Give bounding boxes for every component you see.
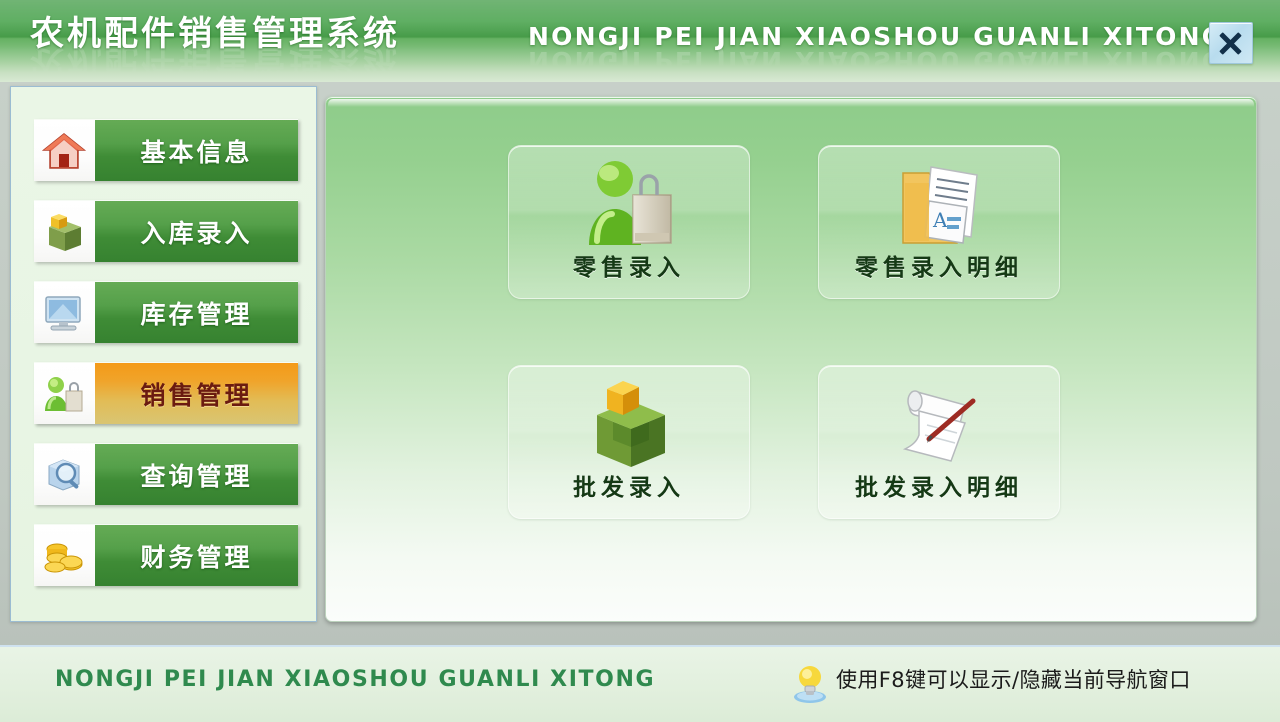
tile-label: 批发录入 [509,468,749,502]
footer-pinyin-label: NONGJI PEI JIAN XIAOSHOU GUANLI XITONG [55,667,655,692]
application-window: 农机配件销售管理系统 农机配件销售管理系统 NONGJI PEI JIAN XI… [0,0,1280,720]
monitor-icon [34,282,95,343]
sidebar-item-label: 库存管理 [95,282,298,343]
sidebar-item-query-management[interactable]: 查询管理 [34,443,298,505]
tile-retail-entry[interactable]: 零售录入 [508,145,750,299]
tile-label: 批发录入明细 [819,468,1059,502]
green-boxes-icon [509,378,749,468]
person-shopping-bag-icon [509,158,749,248]
sidebar-item-label: 财务管理 [95,525,298,586]
close-button[interactable] [1209,22,1253,64]
boxes-icon [34,201,95,262]
folder-documents-icon: A [819,158,1059,248]
sidebar-item-label: 销售管理 [95,363,298,424]
home-icon [34,120,95,181]
workspace: 基本信息 入库录入 [0,82,1280,645]
magnifier-icon [34,444,95,505]
tile-wholesale-entry[interactable]: 批发录入 [508,365,750,519]
sidebar-item-label: 基本信息 [95,120,298,181]
sidebar-item-label: 入库录入 [95,201,298,262]
sales-module-panel: 零售录入 A [325,96,1257,622]
status-bar: NONGJI PEI JIAN XIAOSHOU GUANLI XITONG 使… [0,645,1280,722]
sidebar-item-label: 查询管理 [95,444,298,505]
scroll-pencil-icon [819,378,1059,468]
navigation-sidebar: 基本信息 入库录入 [10,86,317,622]
sidebar-item-sales-management[interactable]: 销售管理 [34,362,298,424]
tile-wholesale-entry-details[interactable]: 批发录入明细 [818,365,1060,519]
sidebar-item-inventory[interactable]: 库存管理 [34,281,298,343]
coins-icon [34,525,95,586]
sidebar-item-inbound-entry[interactable]: 入库录入 [34,200,298,262]
tile-retail-entry-details[interactable]: A 零售录入明细 [818,145,1060,299]
tile-label: 零售录入 [509,248,749,282]
lightbulb-icon [788,661,832,705]
sidebar-item-basic-info[interactable]: 基本信息 [34,119,298,181]
app-title-cn: 农机配件销售管理系统 [30,6,400,55]
title-bar: 农机配件销售管理系统 农机配件销售管理系统 NONGJI PEI JIAN XI… [0,0,1280,82]
tile-label: 零售录入明细 [819,248,1059,282]
footer-hint-text: 使用F8键可以显示/隐藏当前导航窗口 [836,664,1191,694]
sidebar-item-finance-management[interactable]: 财务管理 [34,524,298,586]
person-bag-icon [34,363,95,424]
app-subtitle-pinyin: NONGJI PEI JIAN XIAOSHOU GUANLI XITONG [528,22,1224,51]
